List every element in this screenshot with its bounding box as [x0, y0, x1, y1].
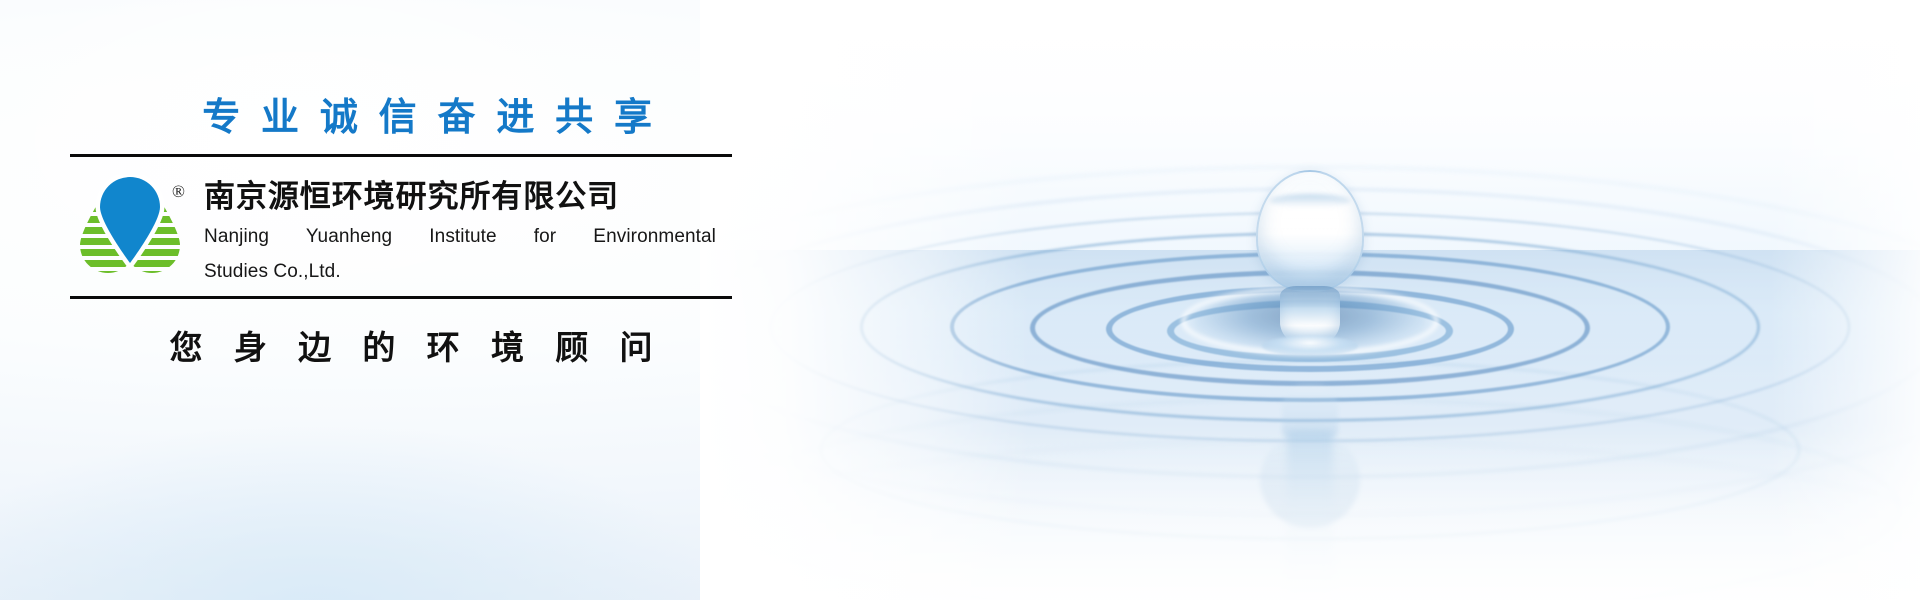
top-slogan: 专 业 诚 信 奋 进 共 享 [70, 96, 732, 140]
company-name-english-line1: Nanjing Yuanheng Institute for Environme… [204, 224, 716, 250]
water-droplet-splash-photo [700, 0, 1920, 600]
registered-trademark-icon: ® [172, 183, 185, 200]
suspended-water-droplet [1250, 170, 1370, 370]
droplet-head [1256, 170, 1364, 292]
water-drop-trefoil-logo: ® [74, 175, 186, 283]
bottom-slogan: 您 身 边 的 环 境 顾 问 [70, 299, 732, 369]
company-identity-block: 专 业 诚 信 奋 进 共 享 [70, 96, 732, 369]
company-banner: 专 业 诚 信 奋 进 共 享 [0, 0, 1920, 600]
droplet-vertical-streak [1287, 430, 1333, 600]
brand-row: ® 南京源恒环境研究所有限公司 Nanjing Yuanheng Institu… [70, 157, 732, 296]
brand-text: 南京源恒环境研究所有限公司 Nanjing Yuanheng Institute… [204, 175, 732, 286]
droplet-base [1262, 336, 1358, 356]
company-name-chinese: 南京源恒环境研究所有限公司 [204, 179, 732, 216]
company-name-english-line2: Studies Co.,Ltd. [204, 259, 716, 285]
